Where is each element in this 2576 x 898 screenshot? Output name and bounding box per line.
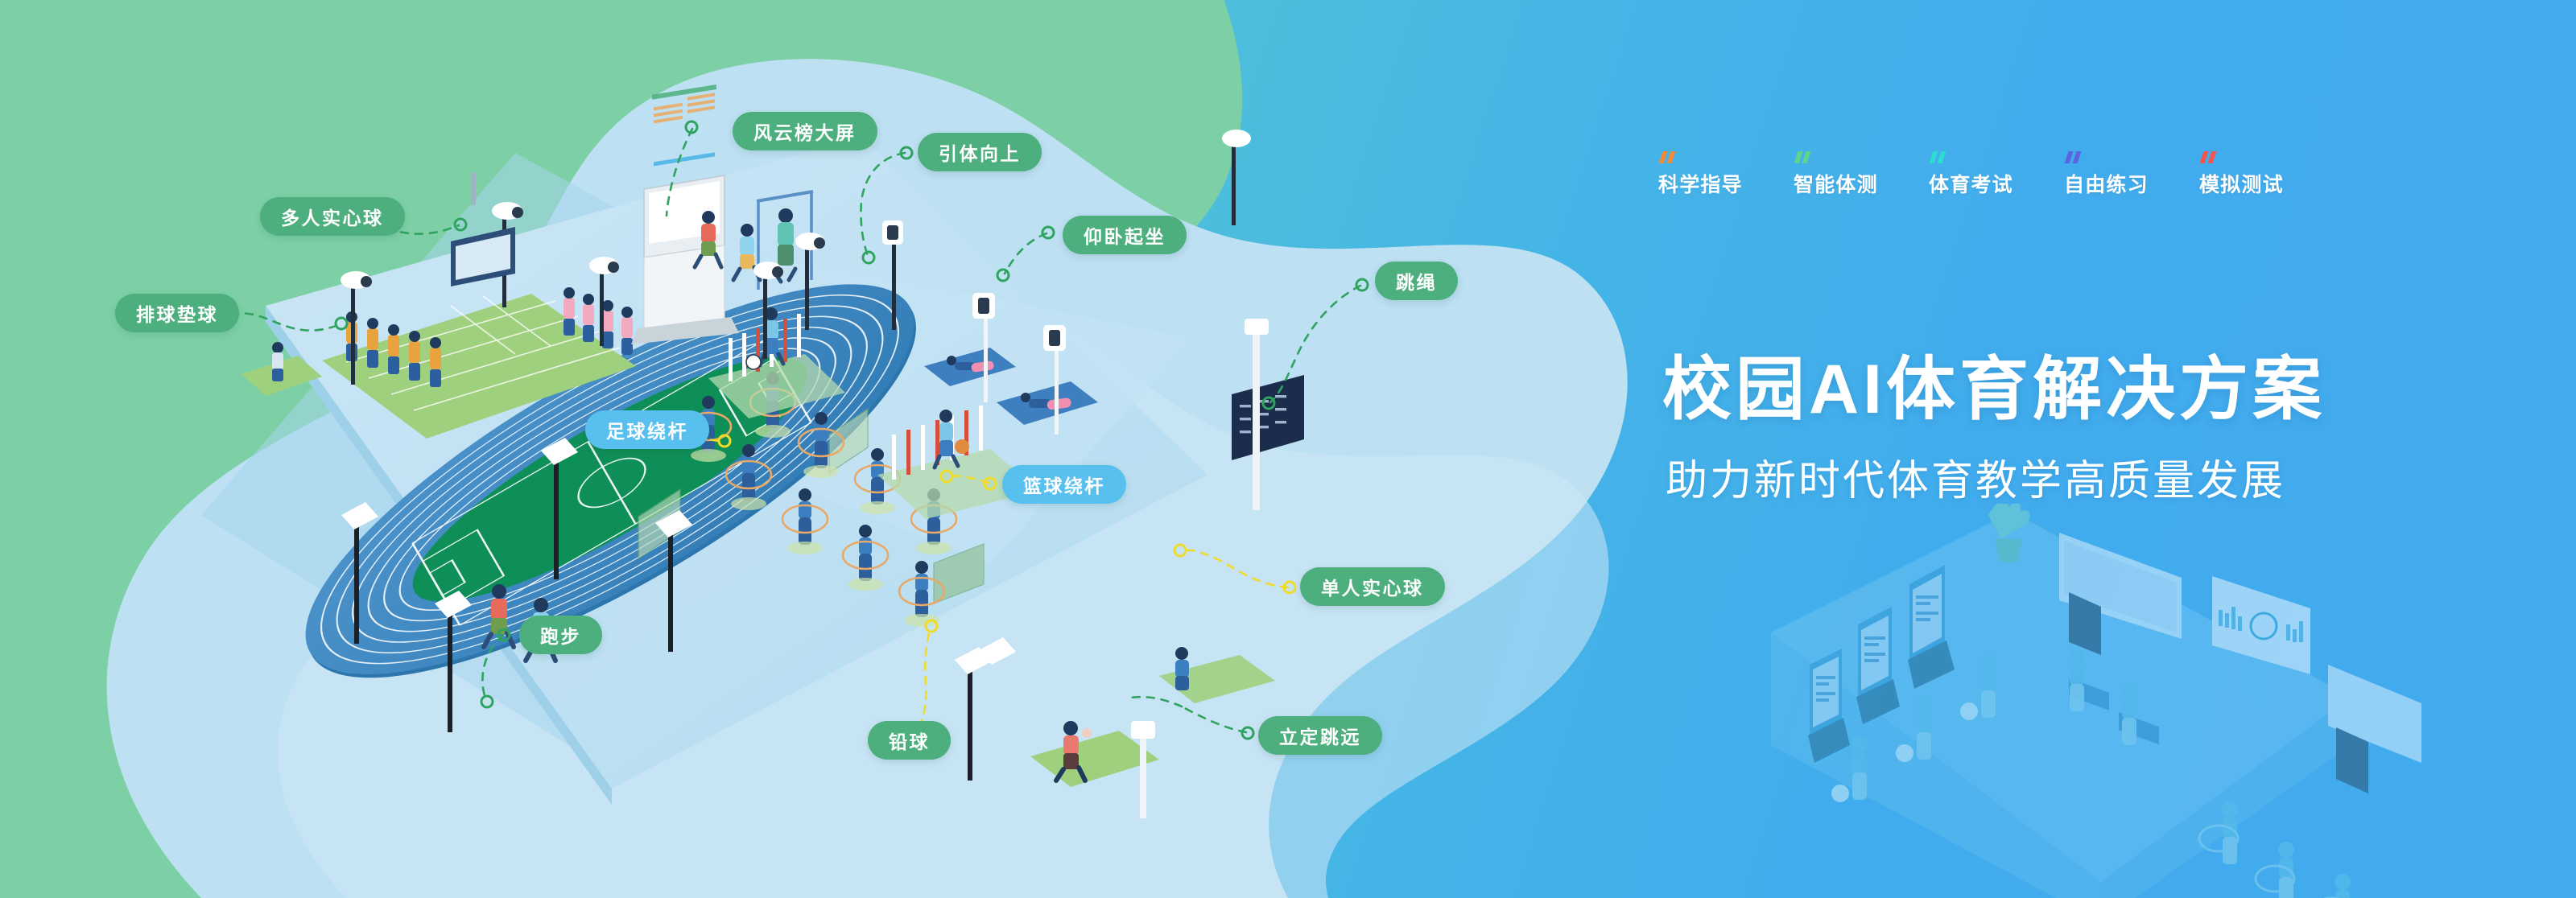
callout-label: 风云榜大屏 [753, 117, 857, 145]
feature-tag-label: 自由练习 [2064, 169, 2149, 198]
callout-label: 立定跳远 [1279, 722, 1361, 749]
callout-label: 跑步 [540, 621, 581, 649]
callout-label: 铅球 [889, 727, 930, 754]
feature-tag-0[interactable]: 科学指导 [1658, 151, 1794, 198]
page-subtitle: 助力新时代体育教学高质量发展 [1666, 447, 2285, 507]
feature-tag-4[interactable]: 模拟测试 [2199, 151, 2334, 198]
standing-long-jump-station [1159, 647, 1275, 703]
page-title: 校园AI体育解决方案 [1662, 332, 2326, 433]
feature-tag-label: 智能体测 [1794, 169, 1878, 198]
callout-pill-7[interactable]: 篮球绕杆 [1002, 465, 1126, 504]
callout-label: 多人实心球 [281, 203, 384, 230]
callout-pill-6[interactable]: 足球绕杆 [585, 410, 709, 449]
callout-pill-9[interactable]: 跑步 [519, 616, 602, 654]
feature-tag-3[interactable]: 自由练习 [2064, 151, 2199, 198]
double-slash-icon [1931, 151, 1949, 163]
callout-pill-10[interactable]: 立定跳远 [1258, 716, 1382, 755]
feature-tag-1[interactable]: 智能体测 [1794, 151, 1929, 198]
feature-tag-row: 科学指导 智能体测 体育考试 自由练习 [1658, 151, 2334, 198]
callout-label: 篮球绕杆 [1023, 471, 1105, 498]
double-slash-icon [1661, 151, 1678, 163]
callout-pill-11[interactable]: 铅球 [868, 721, 951, 760]
callout-pill-5[interactable]: 跳绳 [1375, 262, 1458, 300]
double-slash-icon [2066, 151, 2084, 163]
callout-pill-3[interactable]: 仰卧起坐 [1063, 216, 1187, 254]
feature-tag-label: 体育考试 [1929, 169, 2013, 198]
shot-put-station [1030, 721, 1159, 818]
callout-label: 单人实心球 [1321, 573, 1424, 600]
feature-tag-label: 模拟测试 [2199, 169, 2284, 198]
double-slash-icon [1796, 151, 1814, 163]
callout-pill-2[interactable]: 多人实心球 [260, 197, 405, 236]
callout-pill-8[interactable]: 单人实心球 [1300, 567, 1445, 606]
callout-label: 排球垫球 [136, 299, 218, 327]
callout-label: 跳绳 [1396, 267, 1437, 295]
hero-text-column: 科学指导 智能体测 体育考试 自由练习 [1670, 0, 2576, 898]
leaderboard-display-icon [631, 84, 739, 344]
feature-tag-2[interactable]: 体育考试 [1929, 151, 2064, 198]
hero-banner: 风云榜大屏 引体向上 多人实心球 仰卧起坐 排球垫球 跳绳 足球绕杆 篮球绕杆 … [0, 0, 2576, 898]
callout-pill-1[interactable]: 引体向上 [918, 133, 1042, 171]
callout-pill-4[interactable]: 排球垫球 [115, 294, 239, 332]
double-slash-icon [2202, 151, 2219, 163]
callout-label: 仰卧起坐 [1084, 221, 1166, 249]
feature-tag-label: 科学指导 [1658, 169, 1743, 198]
callout-label: 引体向上 [939, 138, 1021, 166]
callout-pill-0[interactable]: 风云榜大屏 [733, 112, 877, 150]
callout-label: 足球绕杆 [606, 416, 688, 443]
scoreboard-icon [1232, 319, 1304, 510]
